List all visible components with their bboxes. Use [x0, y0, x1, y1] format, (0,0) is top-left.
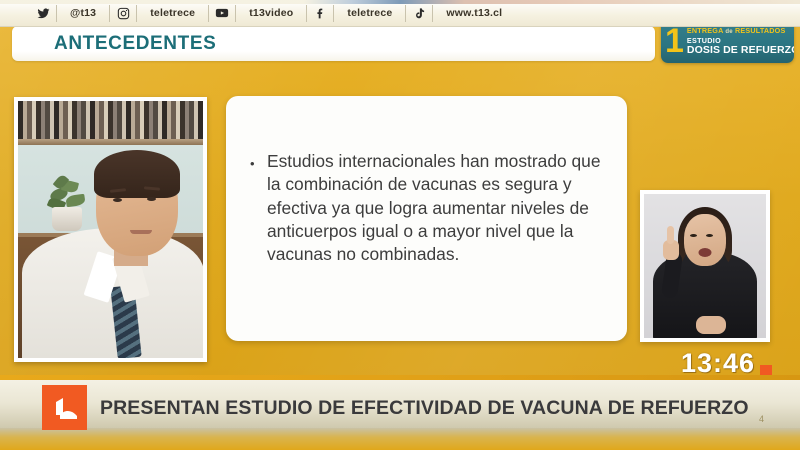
plant-pot — [52, 207, 82, 231]
badge-resultados-label: RESULTADOS — [735, 26, 785, 35]
t13-logo — [42, 385, 87, 430]
social-label-website: www.t13.cl — [433, 7, 515, 19]
guest-mouth — [130, 230, 152, 234]
lower-third-headline: PRESENTAN ESTUDIO DE EFECTIVIDAD DE VACU… — [100, 387, 749, 429]
bullet-list: • Estudios internacionales han mostrado … — [250, 150, 605, 267]
slide-title-bar: ANTECEDENTES — [12, 26, 655, 61]
twitter-icon — [30, 7, 56, 20]
social-media-bar: @t13 teletrece t13video teletrece www.t1… — [0, 0, 800, 27]
bullet-marker: • — [250, 150, 267, 170]
social-label-instagram: teletrece — [137, 7, 208, 19]
badge-line-dosis: DOSIS DE REFUERZO — [687, 44, 794, 56]
badge-number: 1 — [665, 24, 684, 58]
interpreter-eye-right — [706, 234, 713, 237]
guest-hair — [94, 150, 180, 198]
badge-de-label: de — [725, 29, 732, 35]
badge-entrega-label: ENTREGA — [687, 26, 723, 35]
instagram-icon — [110, 7, 136, 20]
youtube-icon — [209, 6, 235, 20]
sign-language-video — [644, 194, 766, 338]
sign-language-interpreter[interactable] — [640, 190, 770, 342]
interpreter-lower-hand — [696, 316, 726, 334]
guest-eye-left — [113, 198, 122, 202]
top-color-strip — [0, 0, 800, 4]
social-label-twitter: @t13 — [57, 7, 109, 19]
social-label-facebook: teletrece — [334, 7, 405, 19]
interpreter-head — [684, 214, 726, 266]
interpreter-pointing-finger — [667, 226, 674, 244]
interpreter-mouth — [699, 248, 712, 257]
slide-page-number: 4 — [759, 414, 764, 424]
bookshelf-books — [18, 101, 203, 139]
lower-third-bottom-band — [0, 428, 800, 450]
badge-line-entrega: ENTREGA de RESULTADOS — [687, 26, 794, 35]
lower-third-banner: PRESENTAN ESTUDIO DE EFECTIVIDAD DE VACU… — [0, 375, 800, 450]
guest-video-feed[interactable] — [14, 97, 207, 362]
guest-eye-right — [147, 197, 156, 201]
guest-video-image — [18, 101, 203, 358]
bullet-item: • Estudios internacionales han mostrado … — [250, 150, 605, 267]
slide-content-card: • Estudios internacionales han mostrado … — [226, 96, 627, 341]
facebook-icon — [307, 7, 333, 20]
social-label-youtube: t13video — [236, 7, 306, 19]
bullet-text: Estudios internacionales han mostrado qu… — [267, 150, 605, 267]
plant-leaves-icon — [44, 173, 92, 211]
page-title: ANTECEDENTES — [12, 33, 216, 55]
interpreter-eye-left — [690, 234, 697, 237]
tiktok-icon — [406, 7, 432, 20]
badge-text-group: ENTREGA de RESULTADOS ESTUDIO DOSIS DE R… — [687, 26, 794, 56]
